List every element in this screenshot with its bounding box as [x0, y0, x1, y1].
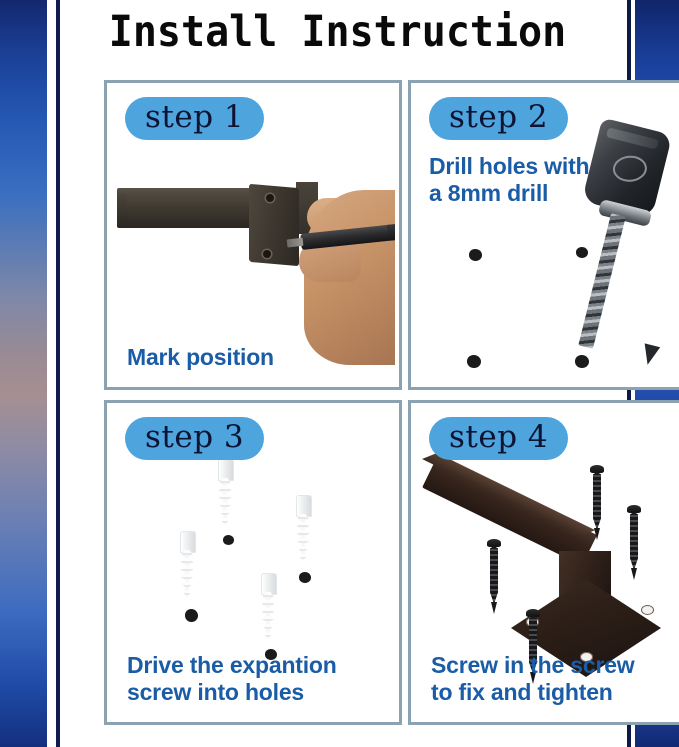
screw-left — [487, 539, 501, 615]
wall-anchor-bottom-mid — [258, 573, 278, 639]
wall-anchor-mid-left — [177, 531, 197, 597]
step-1-caption: Mark position — [127, 344, 274, 371]
drill-hole-bottom-left — [467, 355, 481, 368]
screw-thread — [490, 546, 498, 604]
step-2-inner: step 2 Drill holes with a 8mm drill — [415, 87, 679, 383]
anchor-collar — [296, 495, 312, 517]
step-4-caption: Screw in the screw to fix and tighten — [431, 652, 635, 706]
screw-tip — [631, 568, 637, 580]
clipped-top-text: ____ ___ __ _ __ _ — [64, 0, 611, 4]
step-panel-3: step 3 Drive the expantion screw into ho… — [104, 400, 402, 725]
drill-chuck-slot — [612, 155, 648, 183]
wall-anchor-top-left — [215, 459, 235, 525]
base-plate-hole-right — [641, 605, 654, 615]
anchor-collar — [218, 459, 234, 481]
content-column: ____ ___ __ _ __ _ Install Instruction — [64, 0, 611, 747]
drill-chuck-rib — [606, 127, 659, 149]
page-title: Install Instruction — [83, 8, 592, 56]
anchor-hole-3 — [185, 609, 198, 622]
shelf-bracket-arm — [422, 457, 597, 566]
screw-right — [627, 505, 641, 581]
bracket-screw-hole-top — [266, 194, 274, 202]
anchor-collar — [180, 531, 196, 553]
masonry-drill-bit — [578, 213, 625, 349]
anchor-ribbed-body — [258, 592, 278, 639]
anchor-hole-2 — [299, 572, 311, 583]
wall-anchor-top-right — [293, 495, 313, 561]
step-4-badge: step 4 — [429, 417, 568, 460]
step-panel-1: step 1 Mark position — [104, 80, 402, 390]
install-instruction-page: ____ ___ __ _ __ _ Install Instruction — [0, 0, 679, 747]
step-panel-4: step 4 Screw in the screw to fix and tig… — [408, 400, 679, 725]
drill-hole-top-right — [576, 247, 588, 258]
drill-hole-bottom-right — [575, 355, 589, 368]
anchor-ribbed-body — [293, 514, 313, 561]
step-panel-2: step 2 Drill holes with a 8mm drill — [408, 80, 679, 390]
screw-head — [526, 609, 540, 617]
screw-head — [627, 505, 641, 513]
steps-grid: step 1 Mark position — [42, 80, 633, 732]
screw-thread — [630, 512, 638, 570]
screw-tip — [594, 528, 600, 540]
anchor-ribbed-body — [215, 478, 235, 525]
step-1-illustration — [111, 142, 395, 342]
screw-thread — [593, 472, 601, 530]
screw-head — [590, 465, 604, 473]
screw-tip — [491, 602, 497, 614]
step-2-caption: Drill holes with a 8mm drill — [429, 153, 589, 207]
step-3-inner: step 3 Drive the expantion screw into ho… — [111, 407, 395, 718]
bracket-wall-plate — [249, 184, 299, 266]
anchor-collar — [261, 573, 277, 595]
anchor-hole-1 — [223, 535, 234, 545]
step-2-badge: step 2 — [429, 97, 568, 140]
step-3-badge: step 3 — [125, 417, 264, 460]
drill-chuck — [582, 118, 673, 219]
left-decorative-gradient-rail — [0, 0, 47, 747]
drill-hole-top-left — [469, 249, 482, 261]
screw-head — [487, 539, 501, 547]
step-3-caption: Drive the expantion screw into holes — [127, 652, 337, 706]
step-1-badge: step 1 — [125, 97, 264, 140]
drill-bit-tip — [640, 343, 660, 366]
screw-top — [590, 465, 604, 541]
bracket-screw-hole-bottom — [263, 250, 271, 258]
anchor-ribbed-body — [177, 550, 197, 597]
step-4-inner: step 4 Screw in the screw to fix and tig… — [415, 407, 679, 718]
step-1-inner: step 1 Mark position — [111, 87, 395, 383]
pen-nib — [287, 238, 304, 248]
